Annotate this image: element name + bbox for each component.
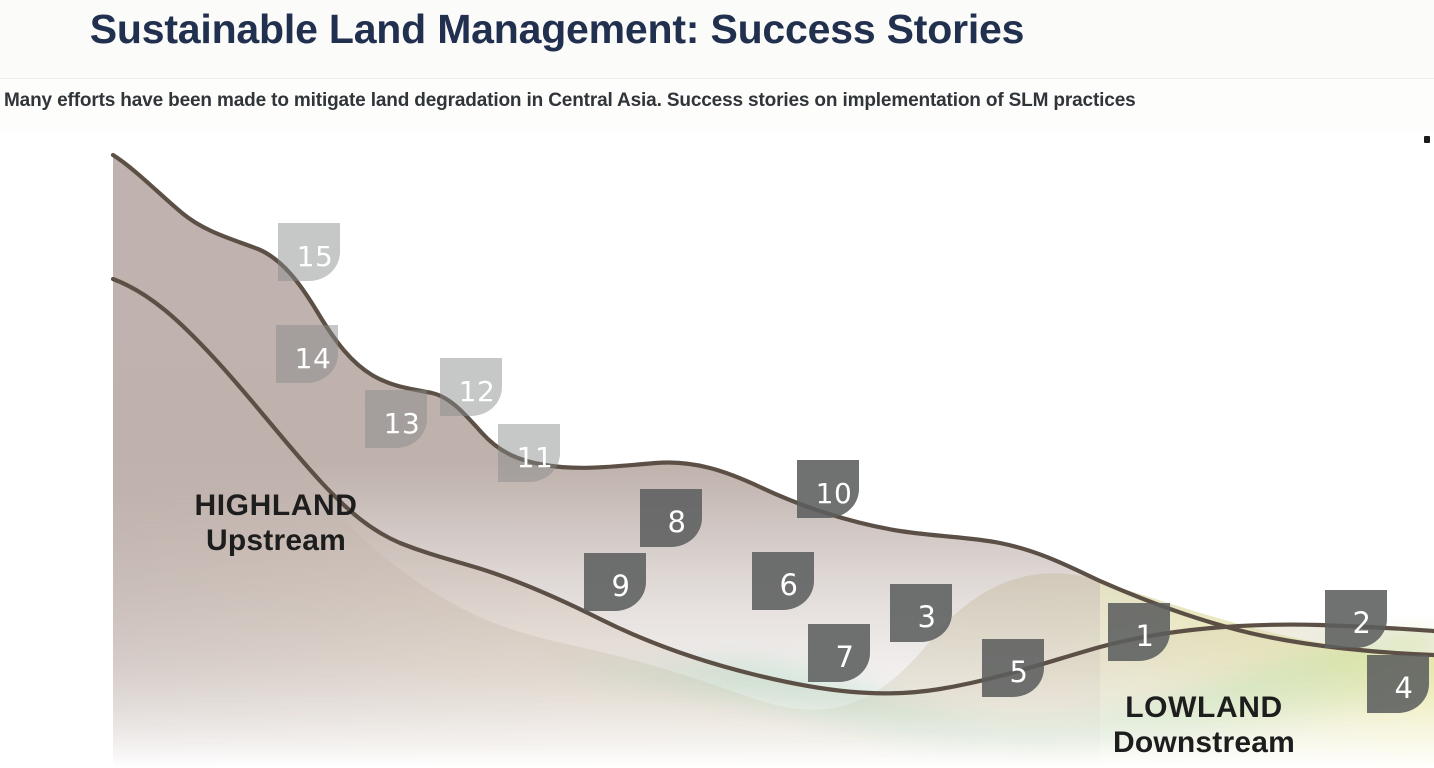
story-marker-10[interactable]: 10 xyxy=(797,460,859,518)
story-marker-3[interactable]: 3 xyxy=(890,584,952,642)
story-marker-13[interactable]: 13 xyxy=(365,390,427,448)
page-subtitle: Many efforts have been made to mitigate … xyxy=(4,90,1136,112)
terrain-layer-highland xyxy=(113,155,1100,768)
story-marker-label: 1 xyxy=(1136,619,1155,653)
story-marker-label: 5 xyxy=(1010,655,1029,689)
story-marker-label: 3 xyxy=(918,600,937,634)
story-marker-6[interactable]: 6 xyxy=(752,552,814,610)
story-marker-11[interactable]: 11 xyxy=(498,424,560,482)
story-marker-label: 12 xyxy=(459,375,496,408)
story-marker-7[interactable]: 7 xyxy=(808,624,870,682)
story-marker-9[interactable]: 9 xyxy=(584,553,646,611)
story-marker-1[interactable]: 1 xyxy=(1108,603,1170,661)
story-marker-label: 10 xyxy=(816,477,853,510)
page-title: Sustainable Land Management: Success Sto… xyxy=(0,6,1434,53)
story-marker-label: 13 xyxy=(384,407,421,440)
story-marker-label: 7 xyxy=(836,640,855,674)
story-marker-label: 8 xyxy=(668,505,687,539)
story-marker-8[interactable]: 8 xyxy=(640,489,702,547)
story-marker-label: 9 xyxy=(612,569,631,603)
story-marker-15[interactable]: 15 xyxy=(278,223,340,281)
story-marker-4[interactable]: 4 xyxy=(1367,655,1429,713)
terrain-illustration xyxy=(0,131,1434,768)
story-marker-2[interactable]: 2 xyxy=(1325,590,1387,648)
header-band: Sustainable Land Management: Success Sto… xyxy=(0,0,1434,78)
landscape-diagram: HIGHLAND Upstream LOWLAND Downstream 151… xyxy=(0,131,1434,768)
story-marker-14[interactable]: 14 xyxy=(276,325,338,383)
story-marker-label: 6 xyxy=(780,568,799,602)
story-marker-label: 11 xyxy=(517,441,554,474)
story-marker-12[interactable]: 12 xyxy=(440,358,502,416)
story-marker-label: 14 xyxy=(295,342,332,375)
story-marker-label: 4 xyxy=(1395,671,1414,705)
subtitle-band: Many efforts have been made to mitigate … xyxy=(0,79,1434,131)
story-marker-label: 15 xyxy=(297,240,334,273)
story-marker-label: 2 xyxy=(1353,606,1372,640)
story-marker-5[interactable]: 5 xyxy=(982,639,1044,697)
speck-artifact xyxy=(1424,136,1430,143)
